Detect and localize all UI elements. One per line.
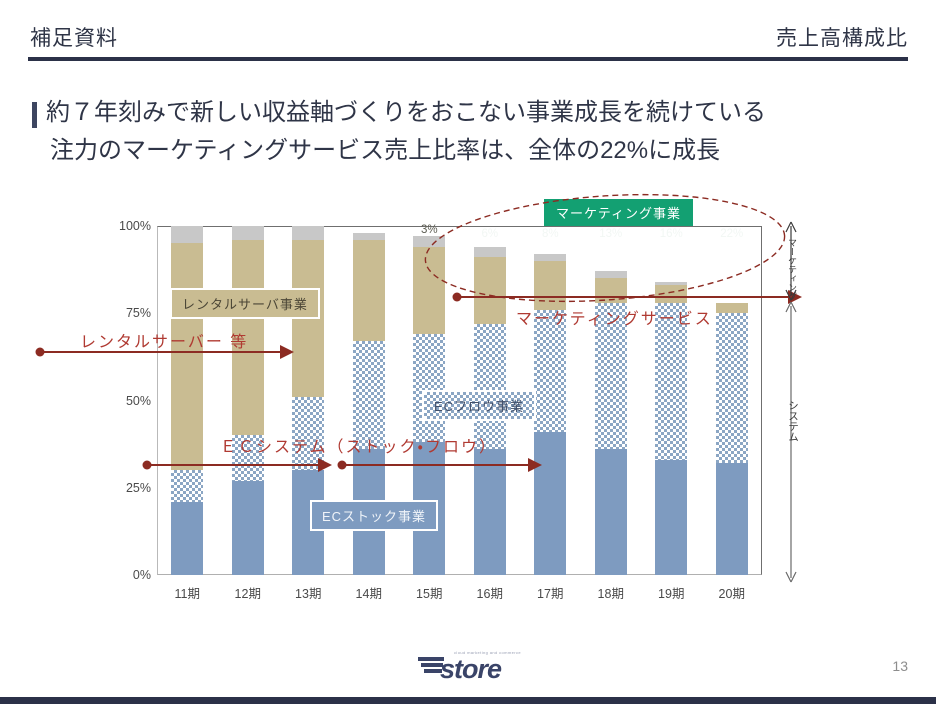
bar-segment-flow — [716, 313, 748, 463]
bar-segment-marketing: 6% — [474, 226, 506, 247]
marketing-percent-label: 6% — [474, 228, 506, 240]
page-number: 13 — [892, 658, 908, 674]
annotation-ec-system-label: ＥＣシステム（ストック・フロウ） — [220, 433, 497, 457]
bar-column: 8% — [534, 226, 566, 575]
marketing-percent-label: 3% — [413, 224, 445, 236]
marketing-percent-label: 13% — [595, 228, 627, 240]
bar-segment-marketing: 3% — [413, 226, 445, 236]
bar-segment-other — [232, 226, 264, 240]
x-axis-tick: 17期 — [537, 583, 563, 602]
bar-segment-stock — [232, 481, 264, 575]
footer-divider — [0, 697, 936, 704]
bar-segment-other — [474, 247, 506, 257]
x-axis-tick: 11期 — [175, 583, 200, 602]
bar-segment-marketing: 16% — [655, 226, 687, 282]
bar-segment-other — [655, 282, 687, 285]
y-axis-tick: 0% — [105, 568, 151, 582]
bar-segment-flow — [413, 334, 445, 442]
callout-ec-flow: ECフロウ事業 — [422, 390, 536, 421]
bar-segment-flow — [474, 324, 506, 450]
y-axis-tick: 50% — [105, 394, 151, 408]
x-axis-tick: 14期 — [356, 583, 382, 602]
bar-column: 13% — [595, 226, 627, 575]
bar-segment-flow — [171, 470, 203, 501]
bar-column: 22% — [716, 226, 748, 575]
sales-composition-chart: 0%25%50%75%100% 3%6%8%13%16%22% 11期12期13… — [0, 0, 936, 704]
annotation-rental-server-label: レンタルサーバー 等 — [80, 328, 248, 352]
bar-segment-server — [595, 278, 627, 302]
bar-segment-marketing: 8% — [534, 226, 566, 254]
bar-segment-stock — [171, 502, 203, 575]
bar-segment-other — [353, 233, 385, 240]
annotation-marketing-label: マーケティングサービス — [516, 305, 713, 329]
bar-segment-server — [171, 243, 203, 470]
callout-ec-stock: ECストック事業 — [310, 500, 438, 531]
bar-column — [171, 226, 203, 575]
marketing-percent-label: 22% — [716, 228, 748, 240]
bar-segment-other — [595, 271, 627, 278]
x-axis: 11期12期13期14期15期16期17期18期19期20期 — [157, 583, 762, 603]
bar-segment-other — [413, 236, 445, 246]
bar-segment-server — [655, 285, 687, 302]
bar-segment-other — [171, 226, 203, 243]
bar-segment-stock — [655, 460, 687, 575]
marketing-percent-label: 8% — [534, 228, 566, 240]
callout-marketing: マーケティング事業 — [544, 199, 693, 226]
y-axis-tick: 75% — [105, 306, 151, 320]
bar-segment-server — [474, 257, 506, 323]
bar-column — [232, 226, 264, 575]
marketing-percent-label: 16% — [655, 228, 687, 240]
x-axis-tick: 18期 — [598, 583, 624, 602]
axis-group-label-marketing: マーケティング — [786, 238, 799, 301]
y-axis-tick: 25% — [105, 481, 151, 495]
bar-column: 16% — [655, 226, 687, 575]
bar-segment-stock — [534, 432, 566, 575]
y-axis-tick: 100% — [105, 219, 151, 233]
bar-segment-stock — [716, 463, 748, 575]
x-axis-tick: 15期 — [416, 583, 442, 602]
x-axis-tick: 20期 — [719, 583, 745, 602]
bar-segment-marketing: 22% — [716, 226, 748, 303]
bar-segment-server — [413, 247, 445, 334]
x-axis-tick: 16期 — [477, 583, 503, 602]
callout-rental-server: レンタルサーバ事業 — [170, 288, 320, 319]
bar-segment-stock — [474, 449, 506, 575]
slide: 補足資料 売上高構成比 約７年刻みで新しい収益軸づくりをおこない事業成長を続けて… — [0, 0, 936, 704]
x-axis-tick: 19期 — [658, 583, 684, 602]
bar-segment-marketing — [353, 226, 385, 233]
bar-segment-stock — [595, 449, 627, 575]
bar-segment-other — [534, 254, 566, 261]
bar-segment-server — [353, 240, 385, 341]
y-axis: 0%25%50%75%100% — [101, 226, 151, 575]
bar-segment-server — [534, 261, 566, 310]
axis-group-label-system: システム — [786, 400, 801, 442]
axis-bracket-system — [786, 302, 796, 582]
bar-segment-server — [716, 303, 748, 313]
x-axis-tick: 13期 — [295, 583, 321, 602]
logo-wordmark: store — [440, 654, 501, 685]
bar-segment-marketing: 13% — [595, 226, 627, 271]
x-axis-tick: 12期 — [235, 583, 261, 602]
bar-segment-other — [292, 226, 324, 240]
estore-logo: cloud marketing and commerce store — [418, 652, 528, 688]
